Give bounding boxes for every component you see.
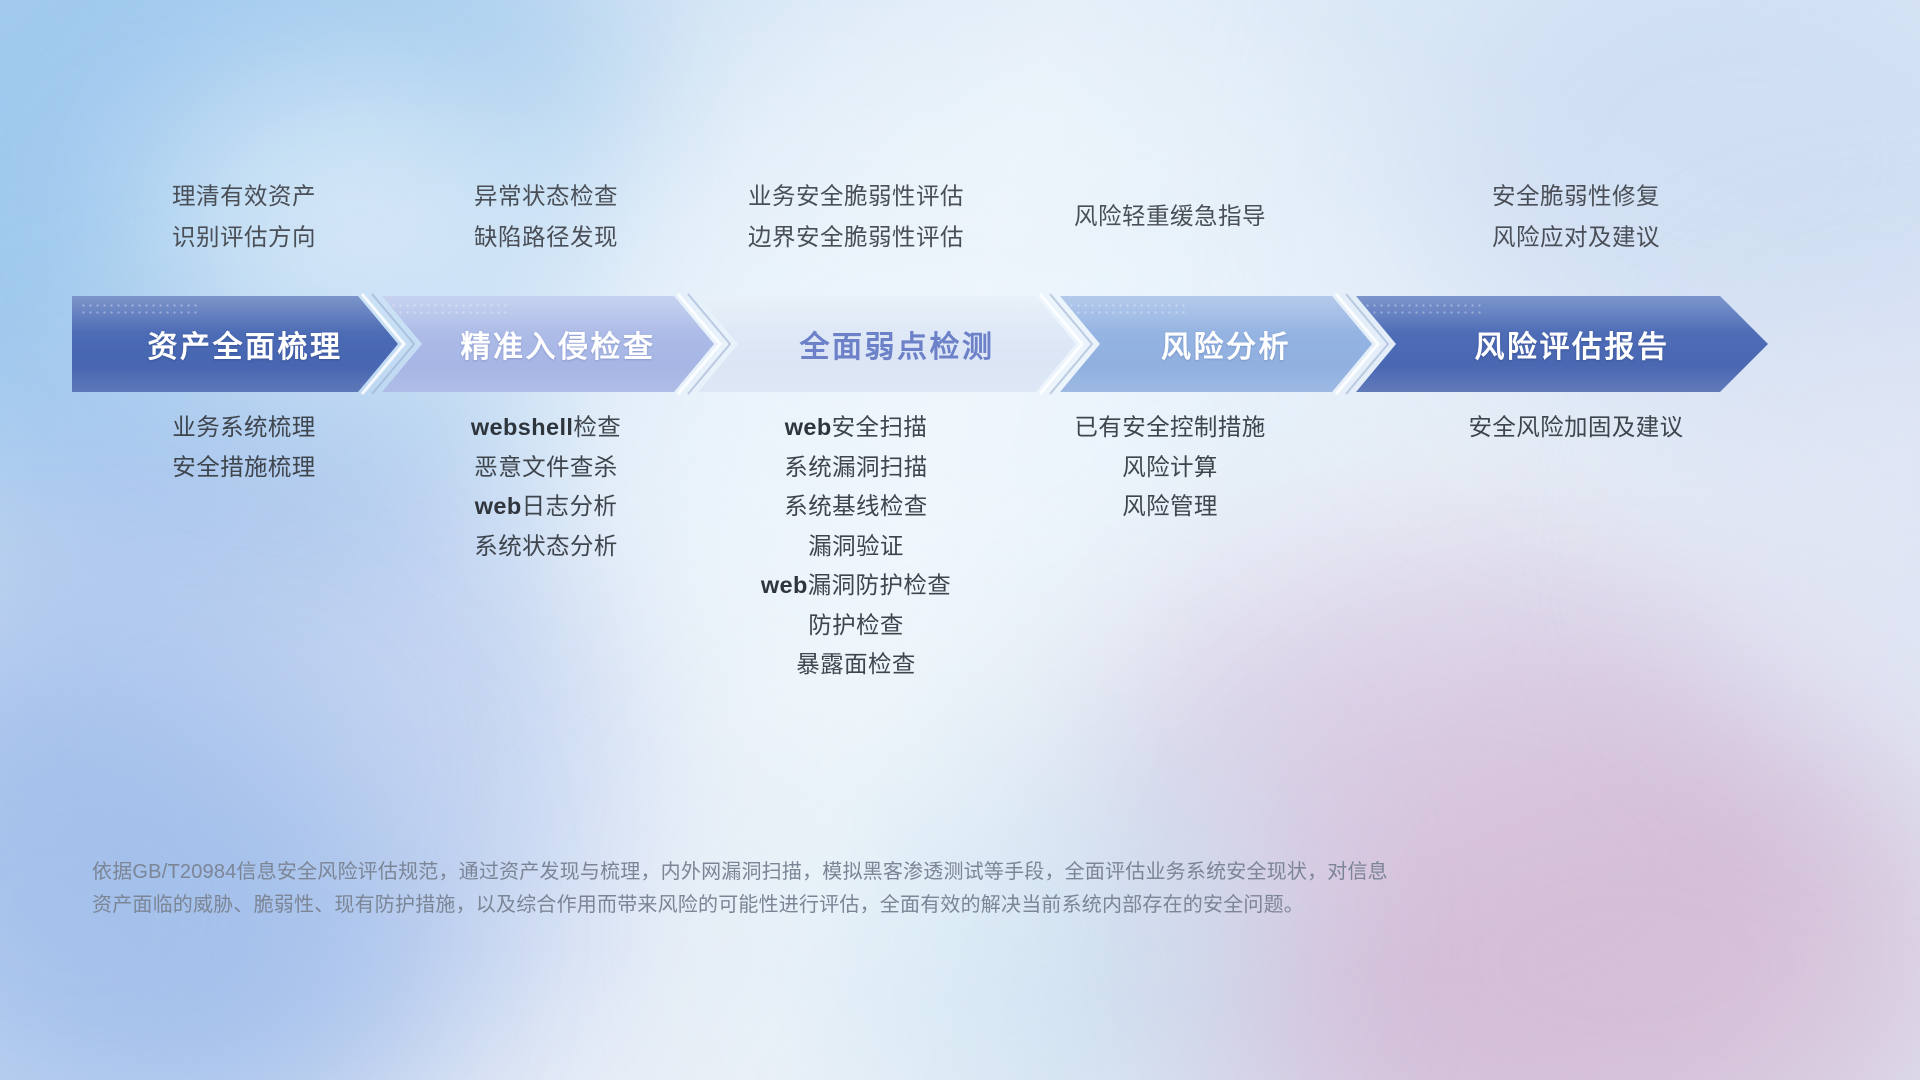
- list-item: webshell检查: [400, 408, 692, 448]
- list-item: 漏洞验证: [692, 527, 1020, 567]
- top-note: 理清有效资产: [88, 176, 400, 217]
- list-item: 暴露面检查: [692, 645, 1020, 685]
- items-risk-report: 安全风险加固及建议: [1320, 408, 1832, 448]
- list-item: web日志分析: [400, 487, 692, 527]
- items-asset-inventory: 业务系统梳理 安全措施梳理: [88, 408, 400, 487]
- top-note: 识别评估方向: [88, 217, 400, 258]
- chevron-dot-texture: [390, 302, 510, 318]
- list-item: 风险管理: [1020, 487, 1320, 527]
- top-notes-intrusion-check: 异常状态检查 缺陷路径发现: [400, 176, 692, 258]
- list-item: 业务系统梳理: [88, 408, 400, 448]
- top-notes-asset-inventory: 理清有效资产 识别评估方向: [88, 176, 400, 258]
- list-item: 系统漏洞扫描: [692, 448, 1020, 488]
- top-note: 风险轻重缓急指导: [1020, 176, 1320, 237]
- footer-line-1: 依据GB/T20984信息安全风险评估规范，通过资产发现与梳理，内外网漏洞扫描，…: [92, 856, 1612, 889]
- list-item: 系统状态分析: [400, 527, 692, 567]
- top-note: 缺陷路径发现: [400, 217, 692, 258]
- chevron-dot-texture: [80, 302, 200, 318]
- list-item: 安全风险加固及建议: [1320, 408, 1832, 448]
- top-notes-risk-analysis: 风险轻重缓急指导: [1020, 176, 1320, 237]
- chevron-step-risk-analysis[interactable]: 风险分析: [1060, 296, 1372, 392]
- chevron-dot-texture: [1068, 302, 1188, 318]
- items-intrusion-check: webshell检查 恶意文件查杀 web日志分析 系统状态分析: [400, 408, 692, 566]
- process-diagram: 理清有效资产 识别评估方向 异常状态检查 缺陷路径发现 业务安全脆弱性评估 边界…: [0, 0, 1920, 1080]
- list-item: web漏洞防护检查: [692, 566, 1020, 606]
- items-weakness-detection: web安全扫描 系统漏洞扫描 系统基线检查 漏洞验证 web漏洞防护检查 防护检…: [692, 408, 1020, 685]
- top-notes-risk-report: 安全脆弱性修复 风险应对及建议: [1320, 176, 1832, 258]
- chevron-step-weakness-detection[interactable]: 全面弱点检测: [698, 296, 1076, 392]
- top-note: 边界安全脆弱性评估: [692, 217, 1020, 258]
- top-notes-weakness-detection: 业务安全脆弱性评估 边界安全脆弱性评估: [692, 176, 1020, 258]
- chevron-step-risk-report[interactable]: 风险评估报告: [1356, 296, 1768, 392]
- chevron-step-intrusion-check[interactable]: 精准入侵检查: [382, 296, 714, 392]
- chevron-label: 全面弱点检测: [800, 322, 995, 366]
- chevron-band: 资产全面梳理 精准入侵检查 全面弱点检测 风险分析 风险评估报告: [72, 296, 1848, 392]
- top-note: 安全脆弱性修复: [1320, 176, 1832, 217]
- top-note: 异常状态检查: [400, 176, 692, 217]
- footer-description: 依据GB/T20984信息安全风险评估规范，通过资产发现与梳理，内外网漏洞扫描，…: [92, 856, 1612, 922]
- list-item: 已有安全控制措施: [1020, 408, 1320, 448]
- chevron-label: 风险分析: [1161, 322, 1291, 366]
- list-item: web安全扫描: [692, 408, 1020, 448]
- chevron-step-asset-inventory[interactable]: 资产全面梳理: [72, 296, 398, 392]
- list-item: 防护检查: [692, 606, 1020, 646]
- list-item: 安全措施梳理: [88, 448, 400, 488]
- top-note: 业务安全脆弱性评估: [692, 176, 1020, 217]
- bottom-items-row: 业务系统梳理 安全措施梳理 webshell检查 恶意文件查杀 web日志分析 …: [88, 408, 1832, 685]
- chevron-label: 风险评估报告: [1475, 322, 1670, 366]
- list-item: 恶意文件查杀: [400, 448, 692, 488]
- top-notes-row: 理清有效资产 识别评估方向 异常状态检查 缺陷路径发现 业务安全脆弱性评估 边界…: [88, 176, 1832, 258]
- chevron-dot-texture: [1364, 302, 1484, 318]
- top-note: 风险应对及建议: [1320, 217, 1832, 258]
- footer-line-2: 资产面临的威胁、脆弱性、现有防护措施，以及综合作用而带来风险的可能性进行评估，全…: [92, 889, 1612, 922]
- items-risk-analysis: 已有安全控制措施 风险计算 风险管理: [1020, 408, 1320, 527]
- list-item: 风险计算: [1020, 448, 1320, 488]
- chevron-label: 精准入侵检查: [461, 322, 656, 366]
- chevron-label: 资产全面梳理: [148, 322, 343, 366]
- list-item: 系统基线检查: [692, 487, 1020, 527]
